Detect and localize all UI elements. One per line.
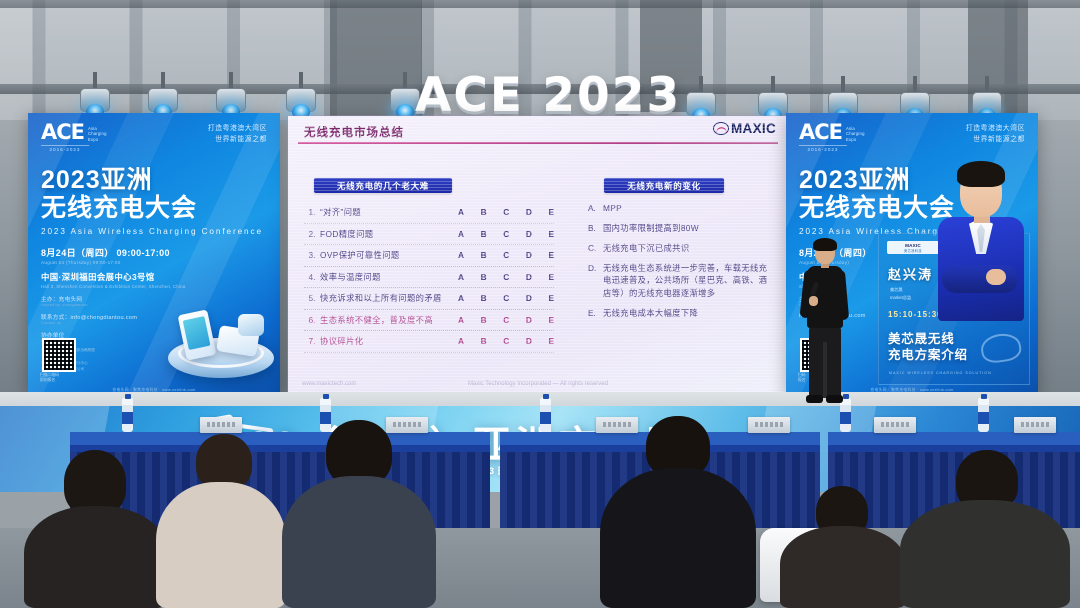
option-label: D xyxy=(526,250,532,260)
list-item-text: 生态系统不健全，普及度不高 xyxy=(320,314,458,326)
list-item-options: ABCDE xyxy=(458,315,554,325)
option-label: E xyxy=(548,207,554,217)
audience-member xyxy=(20,458,170,608)
slogan-line-2: 世界新能源之都 xyxy=(208,135,267,146)
list-item-options: ABCDE xyxy=(458,229,554,239)
option-label: D xyxy=(526,229,532,239)
speaker-topic-english: MAXIC WIRELESS CHARGING SOLUTION xyxy=(889,371,1029,375)
slide-list-item: 2.FOD精度问题ABCDE xyxy=(304,224,554,246)
change-item-key: A. xyxy=(588,202,603,215)
left-conference-banner: ACE Asia Charging Expo 2016-2023 打造粤港澳大湾… xyxy=(28,113,280,396)
option-label: E xyxy=(548,250,554,260)
slide-change-item: E.无线充电成本大幅度下降 xyxy=(588,307,774,320)
slide-list-item: 3.OVP保护可靠性问题ABCDE xyxy=(304,245,554,267)
water-bottle xyxy=(540,398,551,432)
slide-change-item: B.国内功率限制提高到80W xyxy=(588,222,774,235)
speaker-portrait xyxy=(926,161,1034,361)
slide-list-item: 4.效率与温度问题ABCDE xyxy=(304,267,554,289)
list-item-text: 效率与温度问题 xyxy=(320,271,458,283)
option-label: C xyxy=(503,250,509,260)
option-label: C xyxy=(503,336,509,346)
slide-right-list: A.MPPB.国内功率限制提高到80WC.无线充电下沉已成共识D.无线充电生态系… xyxy=(588,202,774,327)
slide-list-item: 5.快充诉求和以上所有问题的矛盾ABCDE xyxy=(304,288,554,310)
water-bottle xyxy=(122,398,133,432)
conference-photo-scene: ACE 2023 ACE Asia Charging Expo 2016-202… xyxy=(0,0,1080,608)
presentation-screen: 无线充电市场总结 MAXIC 无线充电的几个老大难 无线充电新的变化 1.“对齐… xyxy=(288,116,788,392)
audience-member xyxy=(780,498,906,608)
audience-member xyxy=(600,424,756,608)
option-label: B xyxy=(481,272,487,282)
option-label: D xyxy=(526,272,532,282)
change-item-text: 国内功率限制提高到80W xyxy=(603,222,774,235)
option-label: A xyxy=(458,336,464,346)
banner-slogan-right: 打造粤港澳大湾区 世界新能源之都 xyxy=(966,124,1025,146)
option-label: E xyxy=(548,315,554,325)
audience-member xyxy=(156,438,288,608)
ceiling-truss-upper xyxy=(0,0,1080,8)
option-label: B xyxy=(481,293,487,303)
list-item-number: 2. xyxy=(304,229,320,239)
list-item-number: 1. xyxy=(304,207,320,217)
wireless-charger-illustration xyxy=(154,279,280,384)
option-label: B xyxy=(481,250,487,260)
option-label: B xyxy=(481,207,487,217)
ace-logo-word: ACE xyxy=(799,123,842,142)
table-nameplate xyxy=(1014,417,1056,433)
list-item-options: ABCDE xyxy=(458,207,554,217)
list-item-options: ABCDE xyxy=(458,250,554,260)
list-item-text: “对齐”问题 xyxy=(320,206,458,218)
maxic-wave-icon xyxy=(713,122,729,135)
ace-logo-word: ACE xyxy=(41,123,84,142)
slogan-line-1: 打造粤港澳大湾区 xyxy=(966,124,1025,135)
change-item-text: 无线充电生态系统进一步完善，车载无线充电迅速普及，公共场所（星巴克、高铁、酒店等… xyxy=(603,262,774,301)
option-label: A xyxy=(458,315,464,325)
banner-heading-english: 2023 Asia Wireless Charging Conference xyxy=(41,227,267,236)
list-item-number: 4. xyxy=(304,272,320,282)
water-bottle xyxy=(978,398,989,432)
list-item-text: OVP保护可靠性问题 xyxy=(320,249,458,261)
option-label: E xyxy=(548,272,554,282)
change-item-key: B. xyxy=(588,222,603,235)
slide-change-item: A.MPP xyxy=(588,202,774,215)
ace-logo-subtitle: Asia Charging Expo xyxy=(846,126,865,142)
speaker-company-name-cn: 美芯晟科技 xyxy=(904,248,922,253)
list-item-text: 快充诉求和以上所有问题的矛盾 xyxy=(320,292,458,304)
banner-slogan-left: 打造粤港澳大湾区 世界新能源之都 xyxy=(208,124,267,146)
slide-footer-copyright: Maxic Technology Incorporated — All righ… xyxy=(288,381,788,387)
option-label: C xyxy=(503,293,509,303)
change-item-key: C. xyxy=(588,242,603,255)
option-label: A xyxy=(458,250,464,260)
list-item-number: 6. xyxy=(304,315,320,325)
slide-left-list: 1.“对齐”问题ABCDE2.FOD精度问题ABCDE3.OVP保护可靠性问题A… xyxy=(304,202,554,353)
option-label: C xyxy=(503,229,509,239)
option-label: A xyxy=(458,272,464,282)
list-item-options: ABCDE xyxy=(458,293,554,303)
slide-title: 无线充电市场总结 xyxy=(304,124,404,140)
list-item-options: ABCDE xyxy=(458,336,554,346)
qr-caption-left: 扫描二维码 即刻报名 xyxy=(40,373,59,384)
list-item-options: ABCDE xyxy=(458,272,554,282)
water-bottle xyxy=(320,398,331,432)
table-nameplate xyxy=(200,417,242,433)
option-label: B xyxy=(481,336,487,346)
option-label: A xyxy=(458,293,464,303)
ace-logo-years: 2016-2023 xyxy=(799,145,847,152)
option-label: E xyxy=(548,336,554,346)
venue-sign-ace-2023: ACE 2023 xyxy=(415,72,681,119)
slide-list-item: 6.生态系统不健全，普及度不高ABCDE xyxy=(304,310,554,332)
ace-logo-years: 2016-2023 xyxy=(41,145,89,152)
option-label: D xyxy=(526,293,532,303)
change-item-text: MPP xyxy=(603,202,774,215)
slogan-line-2: 世界新能源之都 xyxy=(966,135,1025,146)
list-item-number: 7. xyxy=(304,336,320,346)
slogan-line-1: 打造粤港澳大湾区 xyxy=(208,124,267,135)
qr-code-left[interactable] xyxy=(42,338,76,372)
option-label: A xyxy=(458,207,464,217)
banner-date: 8月24日（周四） 09:00-17:00 xyxy=(41,246,267,259)
slide-list-item: 7.协议碎片化ABCDE xyxy=(304,331,554,353)
list-item-number: 3. xyxy=(304,250,320,260)
live-presenter xyxy=(800,240,850,410)
banner-date-english: August 24 (Thursday) 09:00-17:00 xyxy=(41,260,267,265)
option-label: C xyxy=(503,272,509,282)
maxic-logo-text: MAXIC xyxy=(731,121,776,136)
list-item-number: 5. xyxy=(304,293,320,303)
option-label: A xyxy=(458,229,464,239)
slide-title-underline xyxy=(298,142,778,144)
option-label: D xyxy=(526,207,532,217)
change-item-key: E. xyxy=(588,307,603,320)
option-label: B xyxy=(481,315,487,325)
table-nameplate xyxy=(874,417,916,433)
list-item-text: FOD精度问题 xyxy=(320,228,458,240)
option-label: D xyxy=(526,336,532,346)
slide-list-item: 1.“对齐”问题ABCDE xyxy=(304,202,554,224)
option-label: E xyxy=(548,229,554,239)
slide-left-column-header: 无线充电的几个老大难 xyxy=(314,178,452,193)
maxic-logo: MAXIC xyxy=(713,121,776,136)
slide-change-item: C.无线充电下沉已成共识 xyxy=(588,242,774,255)
option-label: C xyxy=(503,207,509,217)
audience-member xyxy=(278,430,438,608)
change-item-key: D. xyxy=(588,262,603,301)
list-item-text: 协议碎片化 xyxy=(320,335,458,347)
option-label: E xyxy=(548,293,554,303)
banner-heading-line-1: 2023亚洲 xyxy=(41,166,267,194)
change-item-text: 无线充电成本大幅度下降 xyxy=(603,307,774,320)
option-label: D xyxy=(526,315,532,325)
slide-right-column-header: 无线充电新的变化 xyxy=(604,178,724,193)
audience-member xyxy=(900,458,1070,608)
option-label: C xyxy=(503,315,509,325)
slide-change-item: D.无线充电生态系统进一步完善，车载无线充电迅速普及，公共场所（星巴克、高铁、酒… xyxy=(588,262,774,301)
change-item-text: 无线充电下沉已成共识 xyxy=(603,242,774,255)
option-label: B xyxy=(481,229,487,239)
ace-logo-subtitle: Asia Charging Expo xyxy=(88,126,107,142)
banner-heading-line-2: 无线充电大会 xyxy=(41,194,267,222)
